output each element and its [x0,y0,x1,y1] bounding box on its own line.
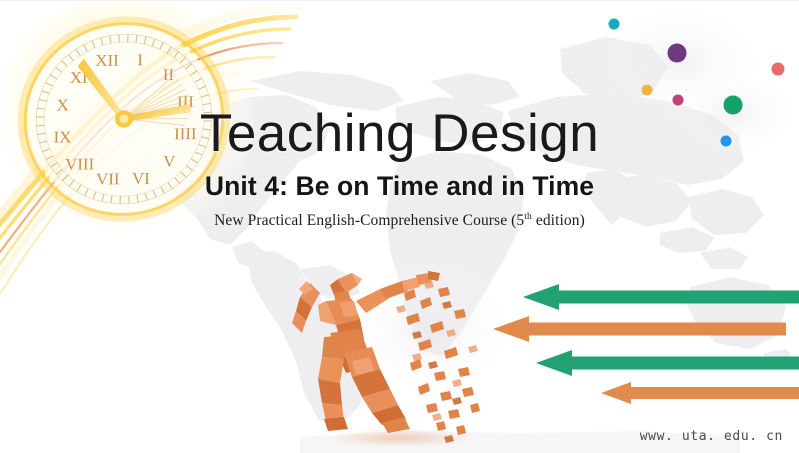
arrow-4-orange [601,382,799,404]
svg-text:XI: XI [70,68,88,87]
arrow-2-orange [493,316,786,342]
course-reference-prefix: New Practical English-Comprehensive Cour… [214,212,524,229]
svg-text:II: II [163,65,174,84]
course-reference-ordinal: th [524,212,532,222]
dot-amber [642,85,653,96]
dot-magenta [673,95,684,106]
dot-purple [668,44,687,63]
dot-teal [609,19,620,30]
title-block: Teaching Design Unit 4: Be on Time and i… [0,105,799,230]
svg-text:XII: XII [95,51,119,70]
page-title: Teaching Design [0,105,799,162]
presentation-slide: XII I II III IIII V VI VII VIII IX X XI [0,0,799,453]
course-reference-suffix: edition) [532,212,585,229]
course-reference: New Practical English-Comprehensive Cour… [0,212,799,230]
footer-website-url: www. uta. edu. cn [640,429,783,444]
unit-subtitle: Unit 4: Be on Time and in Time [0,171,799,202]
arrow-3-green [536,350,799,376]
svg-text:I: I [137,50,143,69]
arrow-1-green [523,284,799,310]
dot-red [772,63,785,76]
